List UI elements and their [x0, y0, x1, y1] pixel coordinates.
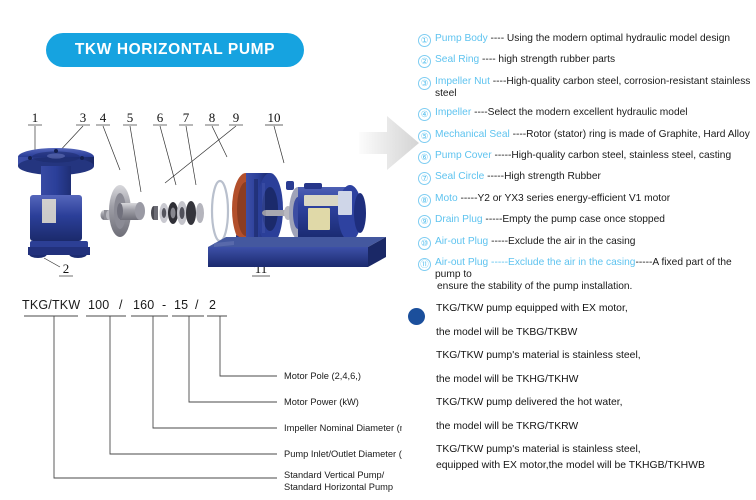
legend-item: ④ Impeller ----Select the modern excelle…	[418, 107, 754, 121]
mc-label-inlet-dia: Pump Inlet/Outlet Diameter (mm)	[284, 449, 402, 459]
mc-label-impeller-dia: Impeller Nominal Diameter (mm)	[284, 423, 402, 433]
legend-description: -----High strength Rubber	[487, 171, 601, 182]
page-title: TKW HORIZONTAL PUMP	[75, 41, 275, 59]
mc-label-motor-pole: Motor Pole (2,4,6,)	[284, 371, 361, 381]
callout-8: 8	[209, 110, 216, 125]
bullet-dot-icon	[408, 308, 425, 325]
callout-10: 10	[268, 110, 281, 125]
legend-part-name: Air-out Plug	[435, 236, 488, 247]
legend-item: ⑥ Pump Cover -----High-quality carbon st…	[418, 150, 754, 164]
title-banner: TKW HORIZONTAL PUMP	[46, 33, 304, 67]
note-line: the model will be TKHG/TKHW	[436, 374, 750, 386]
callout-3: 3	[80, 110, 87, 125]
legend-item: ⑪ Air-out Plug -----Exclude the air in t…	[418, 257, 754, 293]
legend-part-name: Pump Cover	[435, 150, 492, 161]
code-separator-2: -	[162, 298, 166, 312]
legend-part-name: Seal Ring	[435, 54, 479, 65]
legend-item: ③ Impeller Nut ----High-quality carbon s…	[418, 76, 754, 100]
legend-item: ⑦ Seal Circle -----High strength Rubber	[418, 171, 754, 185]
code-segment-power: 15	[174, 298, 188, 312]
note-line: the model will be TKBG/TKBW	[436, 327, 750, 339]
model-code-breakdown: TKG/TKW 100 / 160 - 15 / 2	[22, 298, 402, 493]
legend-part-name: Impeller	[435, 107, 471, 118]
legend-number: ④	[418, 108, 431, 121]
callout-1: 1	[32, 110, 39, 125]
legend-item: ⑩ Air-out Plug -----Exclude the air in t…	[418, 236, 754, 250]
legend-description: ----Select the modern excellent hydrauli…	[474, 107, 687, 118]
code-separator-3: /	[195, 298, 199, 312]
legend-item: ⑧ Moto -----Y2 or YX3 series energy-effi…	[418, 193, 754, 207]
legend-description: -----High-quality carbon steel, stainles…	[494, 150, 731, 161]
legend-number: ⑨	[418, 215, 431, 228]
legend-item: ① Pump Body ---- Using the modern optima…	[418, 33, 754, 47]
code-segment-inlet: 100	[88, 298, 109, 312]
note-line: equipped with EX motor,the model will be…	[436, 460, 750, 472]
legend-number: ⑪	[418, 258, 431, 271]
right-arrow-icon	[357, 108, 421, 178]
code-segment-impeller: 160	[133, 298, 154, 312]
legend-part-name: Pump Body	[435, 33, 488, 44]
callout-7: 7	[183, 110, 190, 125]
legend-description: ----Rotor (stator) ring is made of Graph…	[513, 129, 750, 140]
legend-description-line2: ensure the stability of the pump install…	[437, 281, 754, 293]
part-pump-body	[18, 148, 94, 258]
part-baseplate	[208, 237, 386, 267]
legend-description: -----Exclude the air in the casing	[491, 236, 635, 247]
callout-2: 2	[63, 261, 70, 276]
legend-number: ⑤	[418, 130, 431, 143]
legend-description: -----Y2 or YX3 series energy-efficient V…	[461, 193, 671, 204]
legend-part-name: Air-out Plug -----Exclude the air in the…	[435, 257, 635, 268]
part-mechanical-seal-stack	[151, 201, 204, 225]
legend-number: ③	[418, 77, 431, 90]
legend-part-name: Moto	[435, 193, 458, 204]
note-line: TKG/TKW pump delivered the hot water,	[436, 397, 750, 409]
part-seal-circle	[212, 181, 228, 241]
legend-part-name: Mechanical Seal	[435, 129, 510, 140]
legend-part-name: Drain Plug	[435, 214, 483, 225]
callout-9: 9	[233, 110, 240, 125]
legend-description: -----Empty the pump case once stopped	[485, 214, 665, 225]
legend-number: ②	[418, 55, 431, 68]
legend-number: ⑥	[418, 151, 431, 164]
legend-item: ② Seal Ring ---- high strength rubber pa…	[418, 54, 754, 68]
note-line: the model will be TKRG/TKRW	[436, 421, 750, 433]
parts-legend: ① Pump Body ---- Using the modern optima…	[418, 33, 754, 300]
callout-4: 4	[100, 110, 107, 125]
callout-5: 5	[127, 110, 134, 125]
legend-item: ⑤ Mechanical Seal ----Rotor (stator) rin…	[418, 129, 754, 143]
legend-number: ⑧	[418, 194, 431, 207]
legend-description: ---- high strength rubber parts	[482, 54, 615, 65]
legend-part-name: Impeller Nut	[435, 76, 490, 87]
legend-number: ①	[418, 34, 431, 47]
callout-6: 6	[157, 110, 164, 125]
page-root: TKW HORIZONTAL PUMP	[0, 0, 756, 500]
part-impeller	[109, 185, 145, 237]
mc-label-motor-power: Motor Power (kW)	[284, 397, 359, 407]
legend-description: ---- Using the modern optimal hydraulic …	[491, 33, 731, 44]
legend-item: ⑨ Drain Plug -----Empty the pump case on…	[418, 214, 754, 228]
note-line: TKG/TKW pump equipped with EX motor,	[436, 303, 750, 315]
mc-label-standard-vert: Standard Vertical Pump/	[284, 470, 385, 480]
legend-part-name: Seal Circle	[435, 171, 484, 182]
legend-number: ⑩	[418, 237, 431, 250]
exploded-pump-diagram: 1 3 4 5 6 7 8 9 10 2 11	[8, 95, 408, 290]
code-separator-1: /	[119, 298, 123, 312]
legend-number: ⑦	[418, 172, 431, 185]
mc-label-standard-horiz: Standard Horizontal Pump	[284, 482, 393, 492]
model-variant-notes: TKG/TKW pump equipped with EX motor, the…	[400, 303, 750, 484]
note-line: TKG/TKW pump's material is stainless ste…	[436, 350, 750, 362]
code-segment-series: TKG/TKW	[22, 298, 80, 312]
code-segment-pole: 2	[209, 298, 216, 312]
note-line: TKG/TKW pump's material is stainless ste…	[436, 444, 750, 456]
